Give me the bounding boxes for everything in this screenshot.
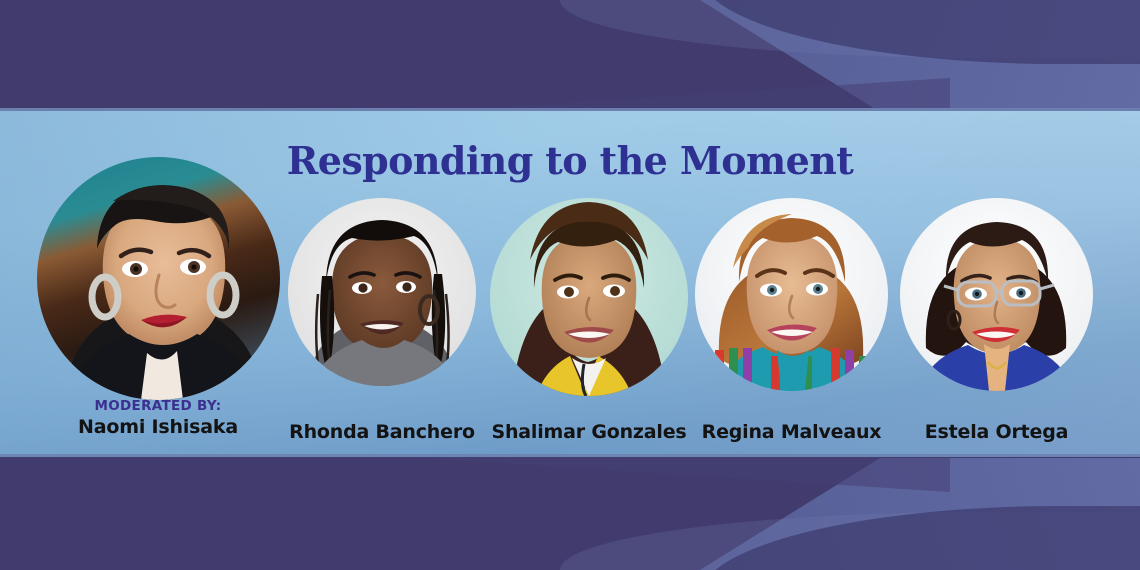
shalimar-gonzales-photo <box>490 198 688 396</box>
moderator-label: MODERATED BY: <box>8 398 308 415</box>
panelist-caption-3: Regina Malveaux <box>690 420 893 444</box>
panelist-portrait-4 <box>900 198 1093 391</box>
moderator-name: Naomi Ishisaka <box>8 415 308 439</box>
panelist-caption-2: Shalimar Gonzales <box>484 420 694 444</box>
panelist-name-1: Rhonda Banchero <box>282 420 482 444</box>
bottom-decorative-band <box>0 457 1140 570</box>
panelist-caption-4: Estela Ortega <box>895 420 1098 444</box>
panelist-caption-1: Rhonda Banchero <box>282 420 482 444</box>
event-banner: Responding to the Moment <box>0 0 1140 570</box>
panelist-portrait-2 <box>490 198 688 396</box>
naomi-ishisaka-photo <box>37 157 280 400</box>
panelist-name-4: Estela Ortega <box>895 420 1098 444</box>
panelist-name-2: Shalimar Gonzales <box>484 420 694 444</box>
moderator-caption: MODERATED BY: Naomi Ishisaka <box>8 398 308 439</box>
rhonda-banchero-photo <box>288 198 476 386</box>
top-decorative-band <box>0 0 1140 111</box>
estela-ortega-photo <box>900 198 1093 391</box>
panelist-name-3: Regina Malveaux <box>690 420 893 444</box>
panelist-portrait-1 <box>288 198 476 386</box>
moderator-portrait <box>37 157 280 400</box>
regina-malveaux-photo <box>695 198 888 391</box>
panelist-portrait-3 <box>695 198 888 391</box>
